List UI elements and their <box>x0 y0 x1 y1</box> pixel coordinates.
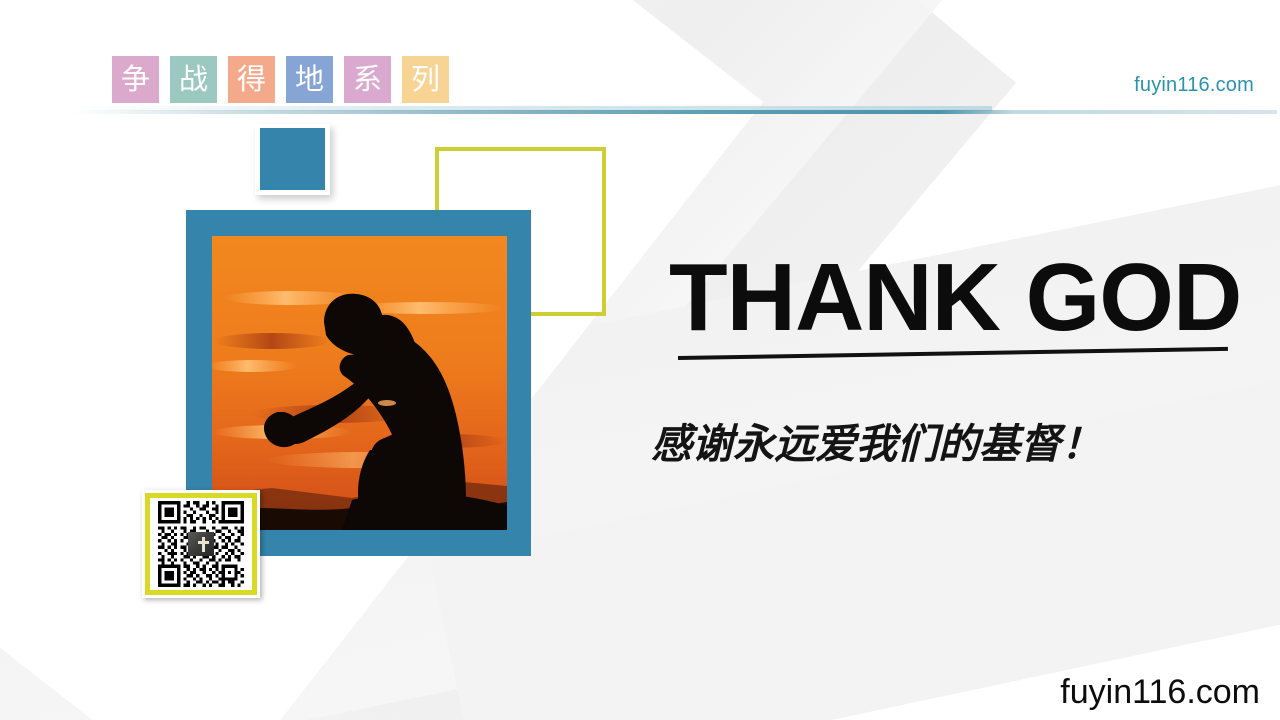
series-box-6: 列 <box>402 56 449 103</box>
blue-square-accent <box>255 124 330 195</box>
series-char-5: 系 <box>353 65 382 94</box>
cross-logo-icon <box>188 532 214 556</box>
series-char-3: 得 <box>237 65 266 94</box>
series-char-1: 争 <box>121 65 150 94</box>
series-box-4: 地 <box>286 56 333 103</box>
qr-code-inner <box>145 493 257 595</box>
series-box-2: 战 <box>170 56 217 103</box>
site-url-top: fuyin116.com <box>1134 74 1254 97</box>
qr-code[interactable] <box>142 490 260 598</box>
praying-man-silhouette-svg <box>212 236 507 530</box>
page-subtitle: 感谢永远爱我们的基督！ <box>651 410 1102 470</box>
series-box-3: 得 <box>228 56 275 103</box>
site-url-bottom: fuyin116.com <box>1060 673 1260 712</box>
header-divider <box>72 110 1277 114</box>
page-title: THANK GOD <box>669 248 1241 348</box>
series-char-2: 战 <box>179 65 208 94</box>
praying-man-silhouette-sunset-photo <box>212 236 507 530</box>
series-box-1: 争 <box>112 56 159 103</box>
slide-canvas: 争 战 得 地 系 列 fuyin116.com <box>0 0 1280 720</box>
series-title-boxes: 争 战 得 地 系 列 <box>112 56 449 103</box>
series-box-5: 系 <box>344 56 391 103</box>
series-char-4: 地 <box>295 65 324 94</box>
series-char-6: 列 <box>411 65 440 94</box>
